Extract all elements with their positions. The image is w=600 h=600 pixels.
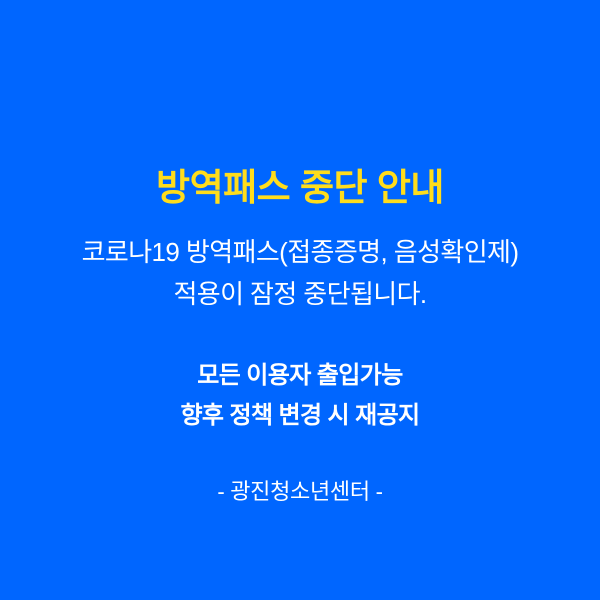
emphasis-line-2: 향후 정책 변경 시 재공지 [0,396,600,436]
notice-card: 방역패스 중단 안내 코로나19 방역패스(접종증명, 음성확인제) 적용이 잠… [0,0,600,600]
page-title: 방역패스 중단 안내 [0,166,600,210]
notice-emphasis-text: 모든 이용자 출입가능 향후 정책 변경 시 재공지 [0,356,600,436]
body-line-2: 적용이 잠정 중단됩니다. [0,273,600,315]
emphasis-line-1: 모든 이용자 출입가능 [0,356,600,396]
body-line-1: 코로나19 방역패스(접종증명, 음성확인제) [0,231,600,273]
notice-footer-signature: - 광진청소년센터 - [0,478,600,507]
notice-body-text: 코로나19 방역패스(접종증명, 음성확인제) 적용이 잠정 중단됩니다. [0,231,600,315]
